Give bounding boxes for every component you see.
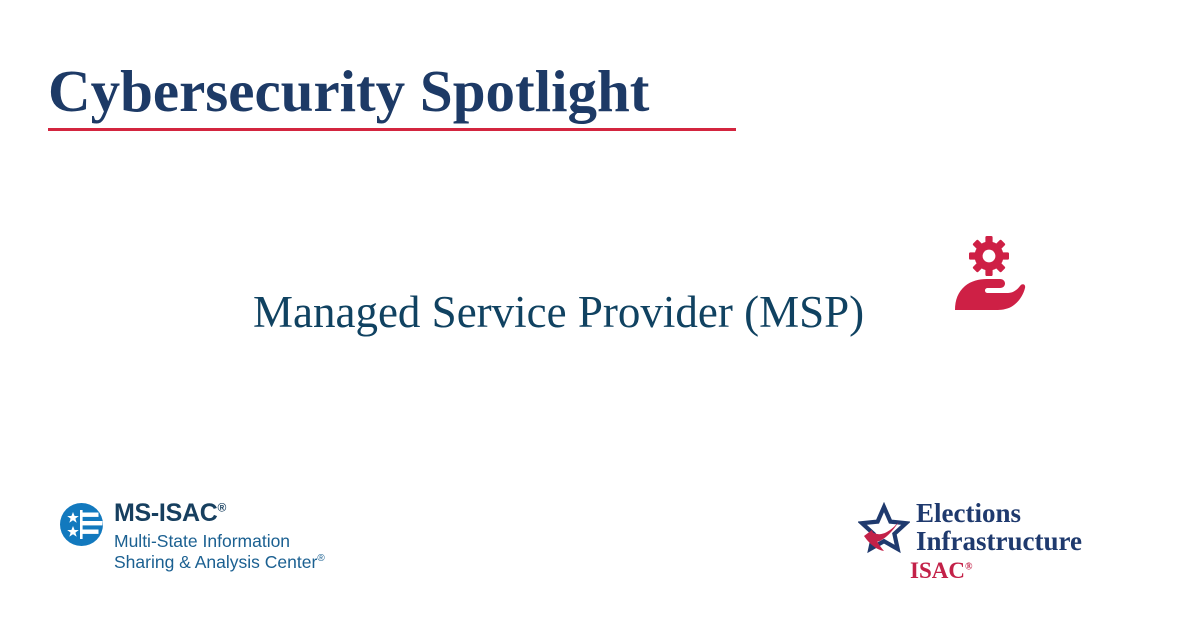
ms-isac-tagline-line-2: Sharing & Analysis Center® — [114, 552, 325, 573]
title-underline-rule — [48, 128, 736, 131]
star-checkmark-emblem — [858, 502, 910, 554]
registered-mark-icon: ® — [317, 553, 324, 564]
slide-canvas: Cybersecurity Spotlight Managed Service … — [0, 0, 1200, 627]
registered-mark-icon: ® — [217, 501, 226, 515]
ms-isac-tagline: Multi-State Information Sharing & Analys… — [114, 531, 325, 572]
ei-isac-logo: Elections Infrastructure — [858, 500, 1082, 556]
ms-isac-logo: MS-ISAC® Multi-State Information Sharing… — [59, 500, 325, 572]
title-block: Cybersecurity Spotlight — [48, 62, 748, 121]
ei-isac-acronym: ISAC® — [910, 559, 972, 583]
subtitle-text: Managed Service Provider (MSP) — [253, 288, 864, 338]
ei-isac-line-1: Elections — [916, 500, 1082, 528]
ei-isac-line-2: Infrastructure — [916, 528, 1082, 556]
ei-isac-text-group: Elections Infrastructure — [916, 500, 1082, 556]
flag-globe-emblem — [59, 502, 104, 547]
ms-isac-wordmark-label: MS-ISAC — [114, 499, 217, 527]
page-title: Cybersecurity Spotlight — [48, 62, 748, 121]
hand-holding-gear-icon — [952, 232, 1026, 312]
registered-mark-icon: ® — [965, 561, 972, 572]
ms-isac-tagline-line-1: Multi-State Information — [114, 531, 325, 552]
ms-isac-text-group: MS-ISAC® Multi-State Information Sharing… — [114, 500, 325, 572]
ms-isac-tagline-line-2-label: Sharing & Analysis Center — [114, 552, 317, 572]
ei-isac-acronym-label: ISAC — [910, 558, 965, 583]
ms-isac-wordmark: MS-ISAC® — [114, 501, 325, 526]
